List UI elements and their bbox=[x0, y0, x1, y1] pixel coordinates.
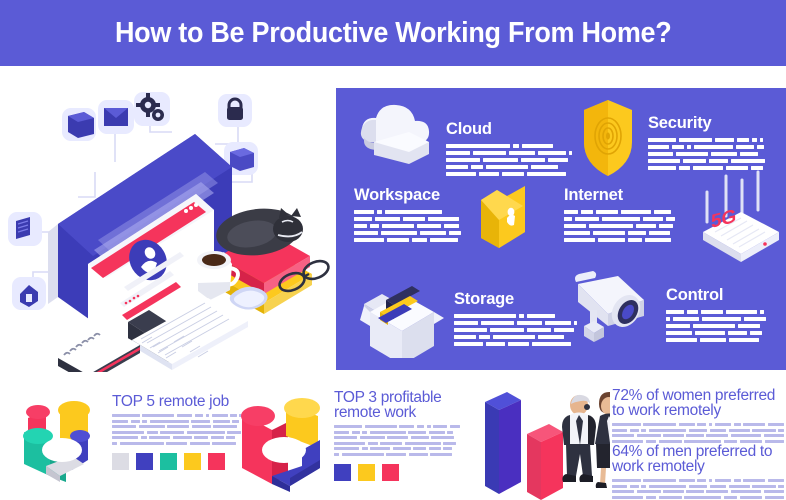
placeholder-lines bbox=[334, 425, 460, 456]
gears-icon bbox=[134, 92, 170, 126]
feature-label: Cloud bbox=[446, 120, 572, 139]
header-divider bbox=[0, 66, 786, 69]
feature-control[interactable]: Control bbox=[568, 264, 766, 352]
feature-label: Workspace bbox=[354, 186, 461, 205]
feature-cloud[interactable]: Cloud bbox=[354, 98, 572, 176]
placeholder-lines bbox=[112, 414, 242, 445]
envelope-icon bbox=[98, 100, 134, 134]
cloud-icon bbox=[354, 98, 442, 172]
placeholder-lines bbox=[354, 210, 461, 242]
swatch bbox=[382, 464, 399, 481]
stat-women-remote[interactable]: 72% of women preferred to work remotely bbox=[612, 388, 784, 443]
shield-fingerprint-icon bbox=[578, 96, 638, 182]
swatch bbox=[184, 453, 201, 470]
spiral-notebook bbox=[58, 328, 140, 372]
page-title: How to Be Productive Working From Home? bbox=[115, 17, 672, 50]
placeholder-lines bbox=[666, 310, 766, 342]
open-box-icon bbox=[354, 266, 450, 358]
swatch bbox=[160, 453, 177, 470]
feature-label: Security bbox=[648, 114, 765, 133]
placeholder-lines bbox=[454, 314, 577, 346]
stat-men-remote[interactable]: 64% of men preferred to work remotely bbox=[612, 444, 784, 499]
stat-title: TOP 3 profitable remote work bbox=[334, 390, 460, 420]
home-office-illustration bbox=[0, 72, 334, 372]
home-icon bbox=[12, 277, 46, 310]
donut-chart-top3 bbox=[228, 388, 336, 492]
router-5g-icon: 5G bbox=[679, 170, 786, 262]
legend-swatches bbox=[112, 453, 242, 470]
businessman-figure bbox=[562, 395, 596, 482]
statistics-row: TOP 5 remote job bbox=[0, 374, 786, 500]
placeholder-lines bbox=[564, 210, 675, 242]
businesswoman-figure bbox=[595, 392, 610, 488]
stat-top5-remote-job[interactable]: TOP 5 remote job bbox=[112, 394, 242, 470]
document-icon bbox=[62, 108, 96, 141]
bar-men bbox=[527, 424, 563, 500]
notes-icon bbox=[8, 212, 42, 246]
feature-workspace[interactable]: Workspace bbox=[354, 186, 539, 254]
security-camera-icon bbox=[568, 264, 660, 352]
placeholder-lines bbox=[612, 423, 784, 443]
swatch bbox=[358, 464, 375, 481]
swatch bbox=[208, 453, 225, 470]
lock-icon bbox=[218, 94, 252, 127]
infographic-page: How to Be Productive Working From Home? bbox=[0, 0, 786, 500]
donut-chart-top5 bbox=[10, 390, 110, 492]
features-panel: Cloud bbox=[336, 88, 786, 370]
placeholder-lines bbox=[648, 138, 765, 170]
swatch bbox=[334, 464, 351, 481]
feature-storage[interactable]: Storage bbox=[354, 266, 577, 358]
header-banner: How to Be Productive Working From Home? bbox=[0, 0, 786, 66]
bar-women bbox=[485, 392, 521, 494]
legend-swatches bbox=[334, 464, 460, 481]
stat-top3-profitable[interactable]: TOP 3 profitable remote work bbox=[334, 390, 460, 481]
feature-label: Internet bbox=[564, 186, 675, 205]
swatch bbox=[112, 453, 129, 470]
placeholder-lines bbox=[612, 479, 784, 499]
feature-internet[interactable]: Internet bbox=[564, 186, 786, 262]
stat-title: TOP 5 remote job bbox=[112, 394, 242, 409]
stat-title: 72% of women preferred to work remotely bbox=[612, 388, 784, 418]
swatch bbox=[136, 453, 153, 470]
folder-user-icon bbox=[467, 174, 539, 254]
feature-label: Storage bbox=[454, 290, 577, 309]
stat-title: 64% of men preferred to work remotely bbox=[612, 444, 784, 474]
feature-label: Control bbox=[666, 286, 766, 305]
bar-chart-and-people bbox=[465, 378, 610, 500]
placeholder-lines bbox=[446, 144, 572, 176]
